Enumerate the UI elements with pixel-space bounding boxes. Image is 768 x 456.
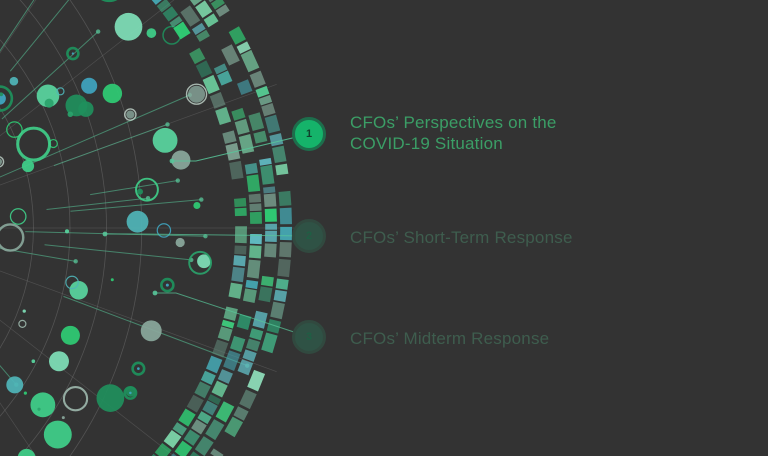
band-tile (267, 319, 281, 334)
band-tile (189, 48, 205, 64)
band-tile (246, 339, 260, 352)
band-tile (212, 339, 228, 357)
band-tile (274, 290, 287, 302)
bubble-node (10, 77, 19, 86)
bubble-node (153, 128, 178, 153)
band-tile (230, 336, 245, 352)
band-tile (215, 107, 231, 125)
band-tile (263, 186, 275, 193)
band-tile (229, 161, 243, 180)
band-tile (260, 165, 274, 185)
connector-node (96, 29, 100, 33)
bubble-core (137, 367, 140, 370)
band-tile (237, 79, 252, 95)
bubble-node (103, 84, 122, 103)
bubble-core (129, 392, 132, 395)
bubble-node (193, 202, 200, 209)
band-tile (234, 198, 246, 207)
bubble-muted (0, 158, 2, 165)
band-tile (272, 146, 286, 163)
band-tile (241, 50, 260, 72)
band-tile (253, 311, 268, 329)
bubble-node (65, 229, 69, 233)
bubble-node (44, 421, 72, 449)
connector-node (165, 122, 169, 126)
band-tile (228, 283, 242, 299)
connector-line (54, 124, 168, 165)
bubble-node (24, 392, 27, 395)
bubble-ring (10, 209, 25, 224)
connector-node (73, 259, 77, 263)
band-tile (269, 133, 283, 146)
band-tile (259, 158, 272, 166)
band-tile (279, 242, 292, 257)
bubble-node (137, 189, 143, 195)
bubble-node (37, 408, 40, 411)
band-tile (277, 259, 290, 277)
bubble-node (45, 99, 54, 108)
leader-origin-dot (103, 232, 108, 237)
band-tile (196, 60, 213, 77)
band-tile (247, 174, 261, 192)
band-tile (243, 288, 257, 303)
band-tile (253, 131, 267, 144)
bubble-node (32, 359, 36, 363)
bubble-node (68, 111, 74, 117)
band-tile (239, 389, 257, 409)
band-tile (234, 245, 246, 254)
band-tile (276, 278, 289, 289)
connector-line (47, 198, 149, 209)
band-tile (265, 115, 281, 134)
bubble-node (62, 416, 65, 419)
bubble-node (6, 376, 23, 393)
band-tile (280, 227, 292, 240)
bubble-ring-outer (93, 0, 125, 1)
band-tile (249, 245, 262, 258)
bubble-node (115, 13, 143, 41)
band-tile (218, 369, 233, 384)
connector-line (70, 200, 201, 212)
bubble-node (147, 28, 157, 38)
band-tile (247, 370, 265, 392)
bubble-muted (188, 86, 205, 103)
band-tile (178, 409, 195, 427)
band-tile (239, 134, 254, 154)
band-tile (245, 163, 258, 175)
connector-line (10, 0, 110, 71)
bubble-node (23, 309, 26, 312)
bubble-node (18, 449, 36, 456)
band-tile (250, 212, 262, 224)
band-tile (238, 359, 254, 375)
bubble-ring (18, 128, 50, 160)
band-tile (233, 255, 246, 266)
slide-root: 1CFOs’ Perspectives on the COVID-19 Situ… (0, 0, 768, 456)
band-tile (187, 395, 204, 413)
band-tile (275, 164, 288, 176)
bubble-node (61, 326, 80, 345)
band-tile (248, 112, 264, 131)
band-tile (249, 203, 261, 211)
connector-line (0, 243, 76, 261)
band-tile (265, 208, 277, 221)
bubble-node (49, 351, 69, 371)
band-tile (237, 314, 252, 330)
radial-chart (0, 0, 768, 456)
band-tile (206, 356, 222, 374)
band-tile (235, 119, 250, 135)
bubble-node (78, 101, 93, 116)
bubble-core (72, 52, 74, 54)
band-tile (249, 194, 261, 203)
band-tile (210, 92, 226, 109)
bubble-node (30, 392, 55, 417)
bubble-muted (126, 110, 134, 118)
bubble-node (97, 384, 125, 412)
bubble-ring (19, 320, 26, 327)
leader-origin-dot (153, 291, 158, 296)
band-tile (229, 26, 246, 44)
band-tile (210, 448, 223, 456)
band-tile (224, 306, 238, 320)
band-tile (265, 224, 277, 230)
band-tile (194, 381, 210, 398)
bubble-node (141, 320, 162, 341)
band-tile (258, 286, 272, 302)
band-tile (249, 328, 263, 340)
bubble-node (111, 278, 114, 281)
band-tile (279, 191, 292, 206)
band-tile (280, 208, 292, 225)
connector-node (199, 197, 203, 201)
bubble-node (81, 78, 97, 94)
band-tile (245, 280, 258, 289)
band-tile (231, 108, 245, 121)
band-tile (247, 260, 261, 279)
band-tile (222, 130, 236, 144)
bubble-ring (64, 387, 87, 410)
band-tile (270, 302, 285, 320)
band-tile (235, 208, 247, 216)
band-tile (261, 332, 277, 353)
band-tile (264, 243, 277, 257)
band-tile (212, 381, 228, 398)
band-tile (218, 326, 233, 341)
bubble-core (166, 284, 169, 287)
bubble-node (176, 238, 185, 247)
band-tile (203, 75, 220, 94)
leader-origin-dot (170, 159, 175, 164)
bubble-node (22, 160, 34, 172)
band-tile (250, 71, 266, 88)
band-tile (261, 103, 275, 116)
bubble-node (127, 211, 149, 233)
connector-line (0, 0, 23, 57)
connector-line (45, 245, 192, 260)
band-tile (261, 276, 274, 287)
band-tile (264, 193, 277, 207)
connector-node (176, 178, 180, 182)
band-tile (231, 267, 245, 282)
band-tile (265, 231, 277, 242)
